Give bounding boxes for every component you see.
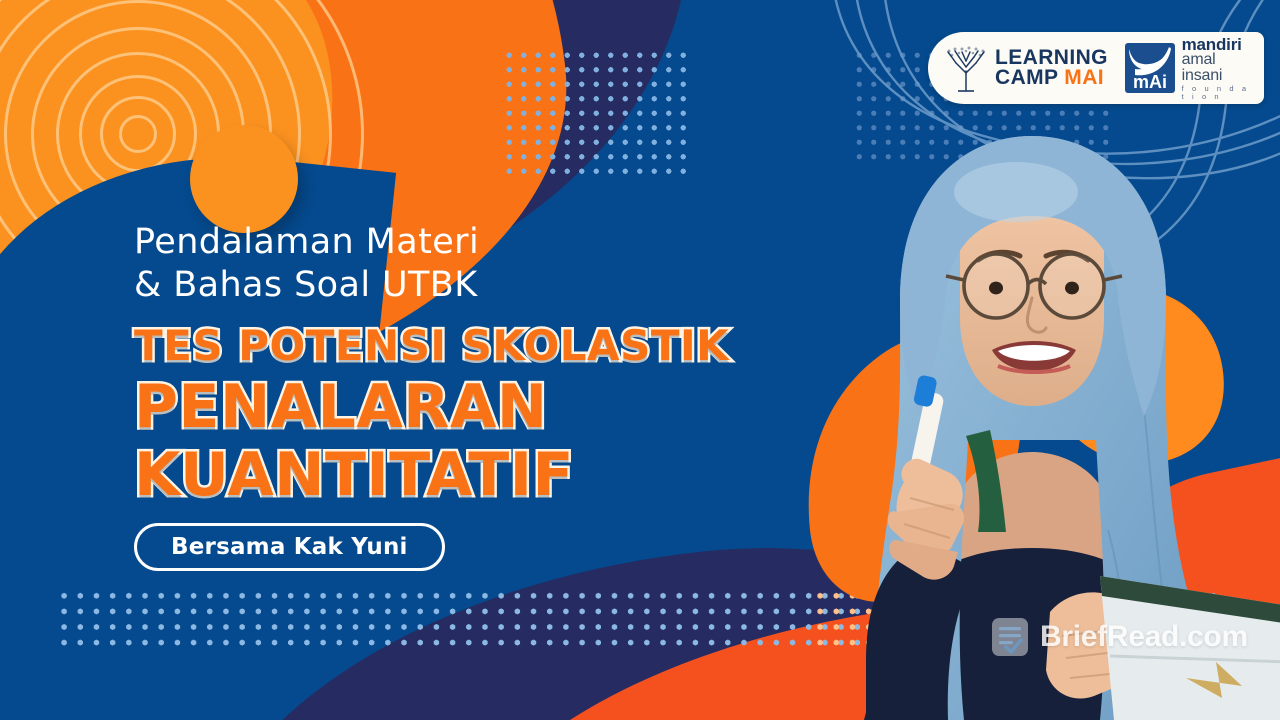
logo-line-camp-mai: CAMP MAI	[995, 68, 1108, 88]
orange-circle-accent	[190, 125, 298, 233]
logo-camp-word: CAMP	[995, 66, 1064, 89]
document-check-icon	[990, 616, 1030, 658]
learning-camp-text: LEARNING CAMP MAI	[995, 48, 1108, 88]
subtitle-line-2: & Bahas Soal UTBK	[134, 265, 794, 306]
mai-mark-text: mAi	[1133, 72, 1167, 92]
learning-camp-lockup: LEARNING CAMP MAI	[944, 43, 1108, 93]
mandiri-line3: f o u n d a t i o n	[1182, 85, 1254, 100]
mandiri-text-block: mandiri amal insani f o u n d a t i o n	[1182, 36, 1254, 100]
headline-line-1: TES POTENSI SKOLASTIK	[134, 325, 794, 367]
headline-line-3: KUANTITATIF	[134, 445, 794, 505]
headline-line-2: PENALARAN	[134, 377, 794, 437]
headline-block: Pendalaman Materi & Bahas Soal UTBK TES …	[134, 222, 794, 571]
mandiri-amal-insani-lockup: mAi mandiri amal insani f o u n d a t i …	[1125, 36, 1254, 100]
tree-icon	[944, 43, 988, 93]
learning-camp-mai-logo-badge[interactable]: LEARNING CAMP MAI mAi mandiri amal insan…	[928, 32, 1264, 104]
logo-divider	[1116, 45, 1117, 91]
poster-canvas: LEARNING CAMP MAI mAi mandiri amal insan…	[0, 0, 1280, 720]
dot-grid-top	[500, 46, 686, 174]
presenter-pill[interactable]: Bersama Kak Yuni	[134, 523, 445, 571]
watermark-text: BriefRead.com	[1040, 620, 1248, 654]
mandiri-line2: amal insani	[1182, 52, 1254, 84]
mai-swoosh-mark-icon: mAi	[1125, 43, 1175, 93]
logo-mai-word: MAI	[1064, 66, 1104, 89]
subtitle-line-1: Pendalaman Materi	[134, 222, 794, 263]
logo-line-learning: LEARNING	[995, 48, 1108, 68]
briefread-watermark: BriefRead.com	[990, 616, 1248, 658]
